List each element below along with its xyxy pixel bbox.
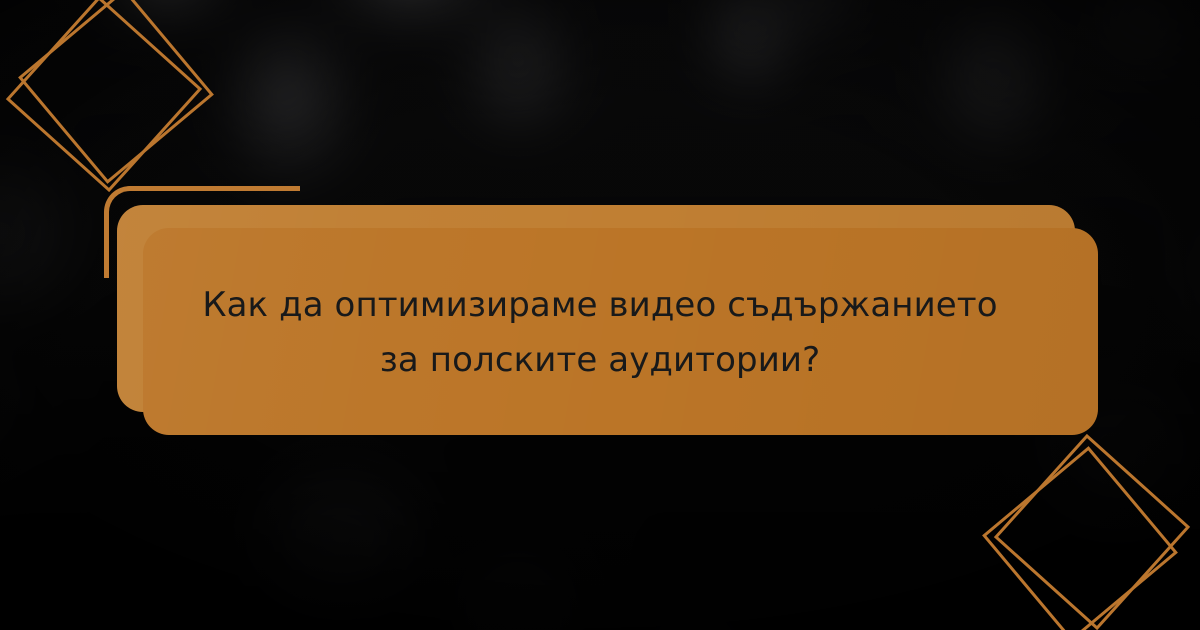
deco-square-tl-a	[8, 0, 200, 190]
headline-text: Как да оптимизираме видео съдържанието з…	[0, 278, 1200, 388]
rotated-squares-bottom-right	[964, 404, 1200, 630]
deco-square-tl-b	[20, 0, 212, 182]
social-card-canvas: Как да оптимизираме видео съдържанието з…	[0, 0, 1200, 630]
deco-square-br-b	[984, 448, 1176, 630]
